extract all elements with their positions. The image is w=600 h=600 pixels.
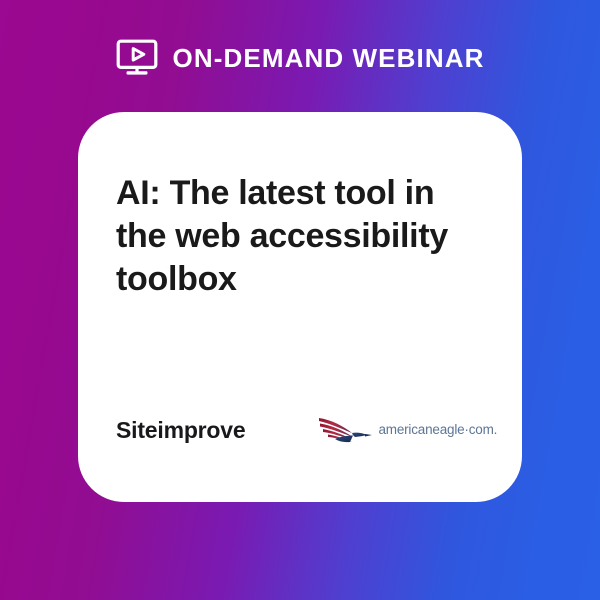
page-title: AI: The latest tool in the web accessibi… (116, 172, 484, 300)
americaneagle-logo: americaneagle·com. (317, 413, 497, 447)
eyebrow-banner: ON-DEMAND WEBINAR (0, 36, 600, 80)
siteimprove-logo-text: Siteimprove (116, 419, 245, 442)
promo-card-canvas: ON-DEMAND WEBINAR AI: The latest tool in… (0, 0, 600, 600)
brand-row: Siteimprove (116, 410, 484, 468)
eagle-icon (317, 413, 373, 447)
eyebrow-label: ON-DEMAND WEBINAR (173, 45, 485, 71)
webinar-monitor-play-icon (116, 39, 158, 77)
content-card: AI: The latest tool in the web accessibi… (78, 112, 522, 502)
americaneagle-wordmark: americaneagle·com. (378, 423, 497, 437)
